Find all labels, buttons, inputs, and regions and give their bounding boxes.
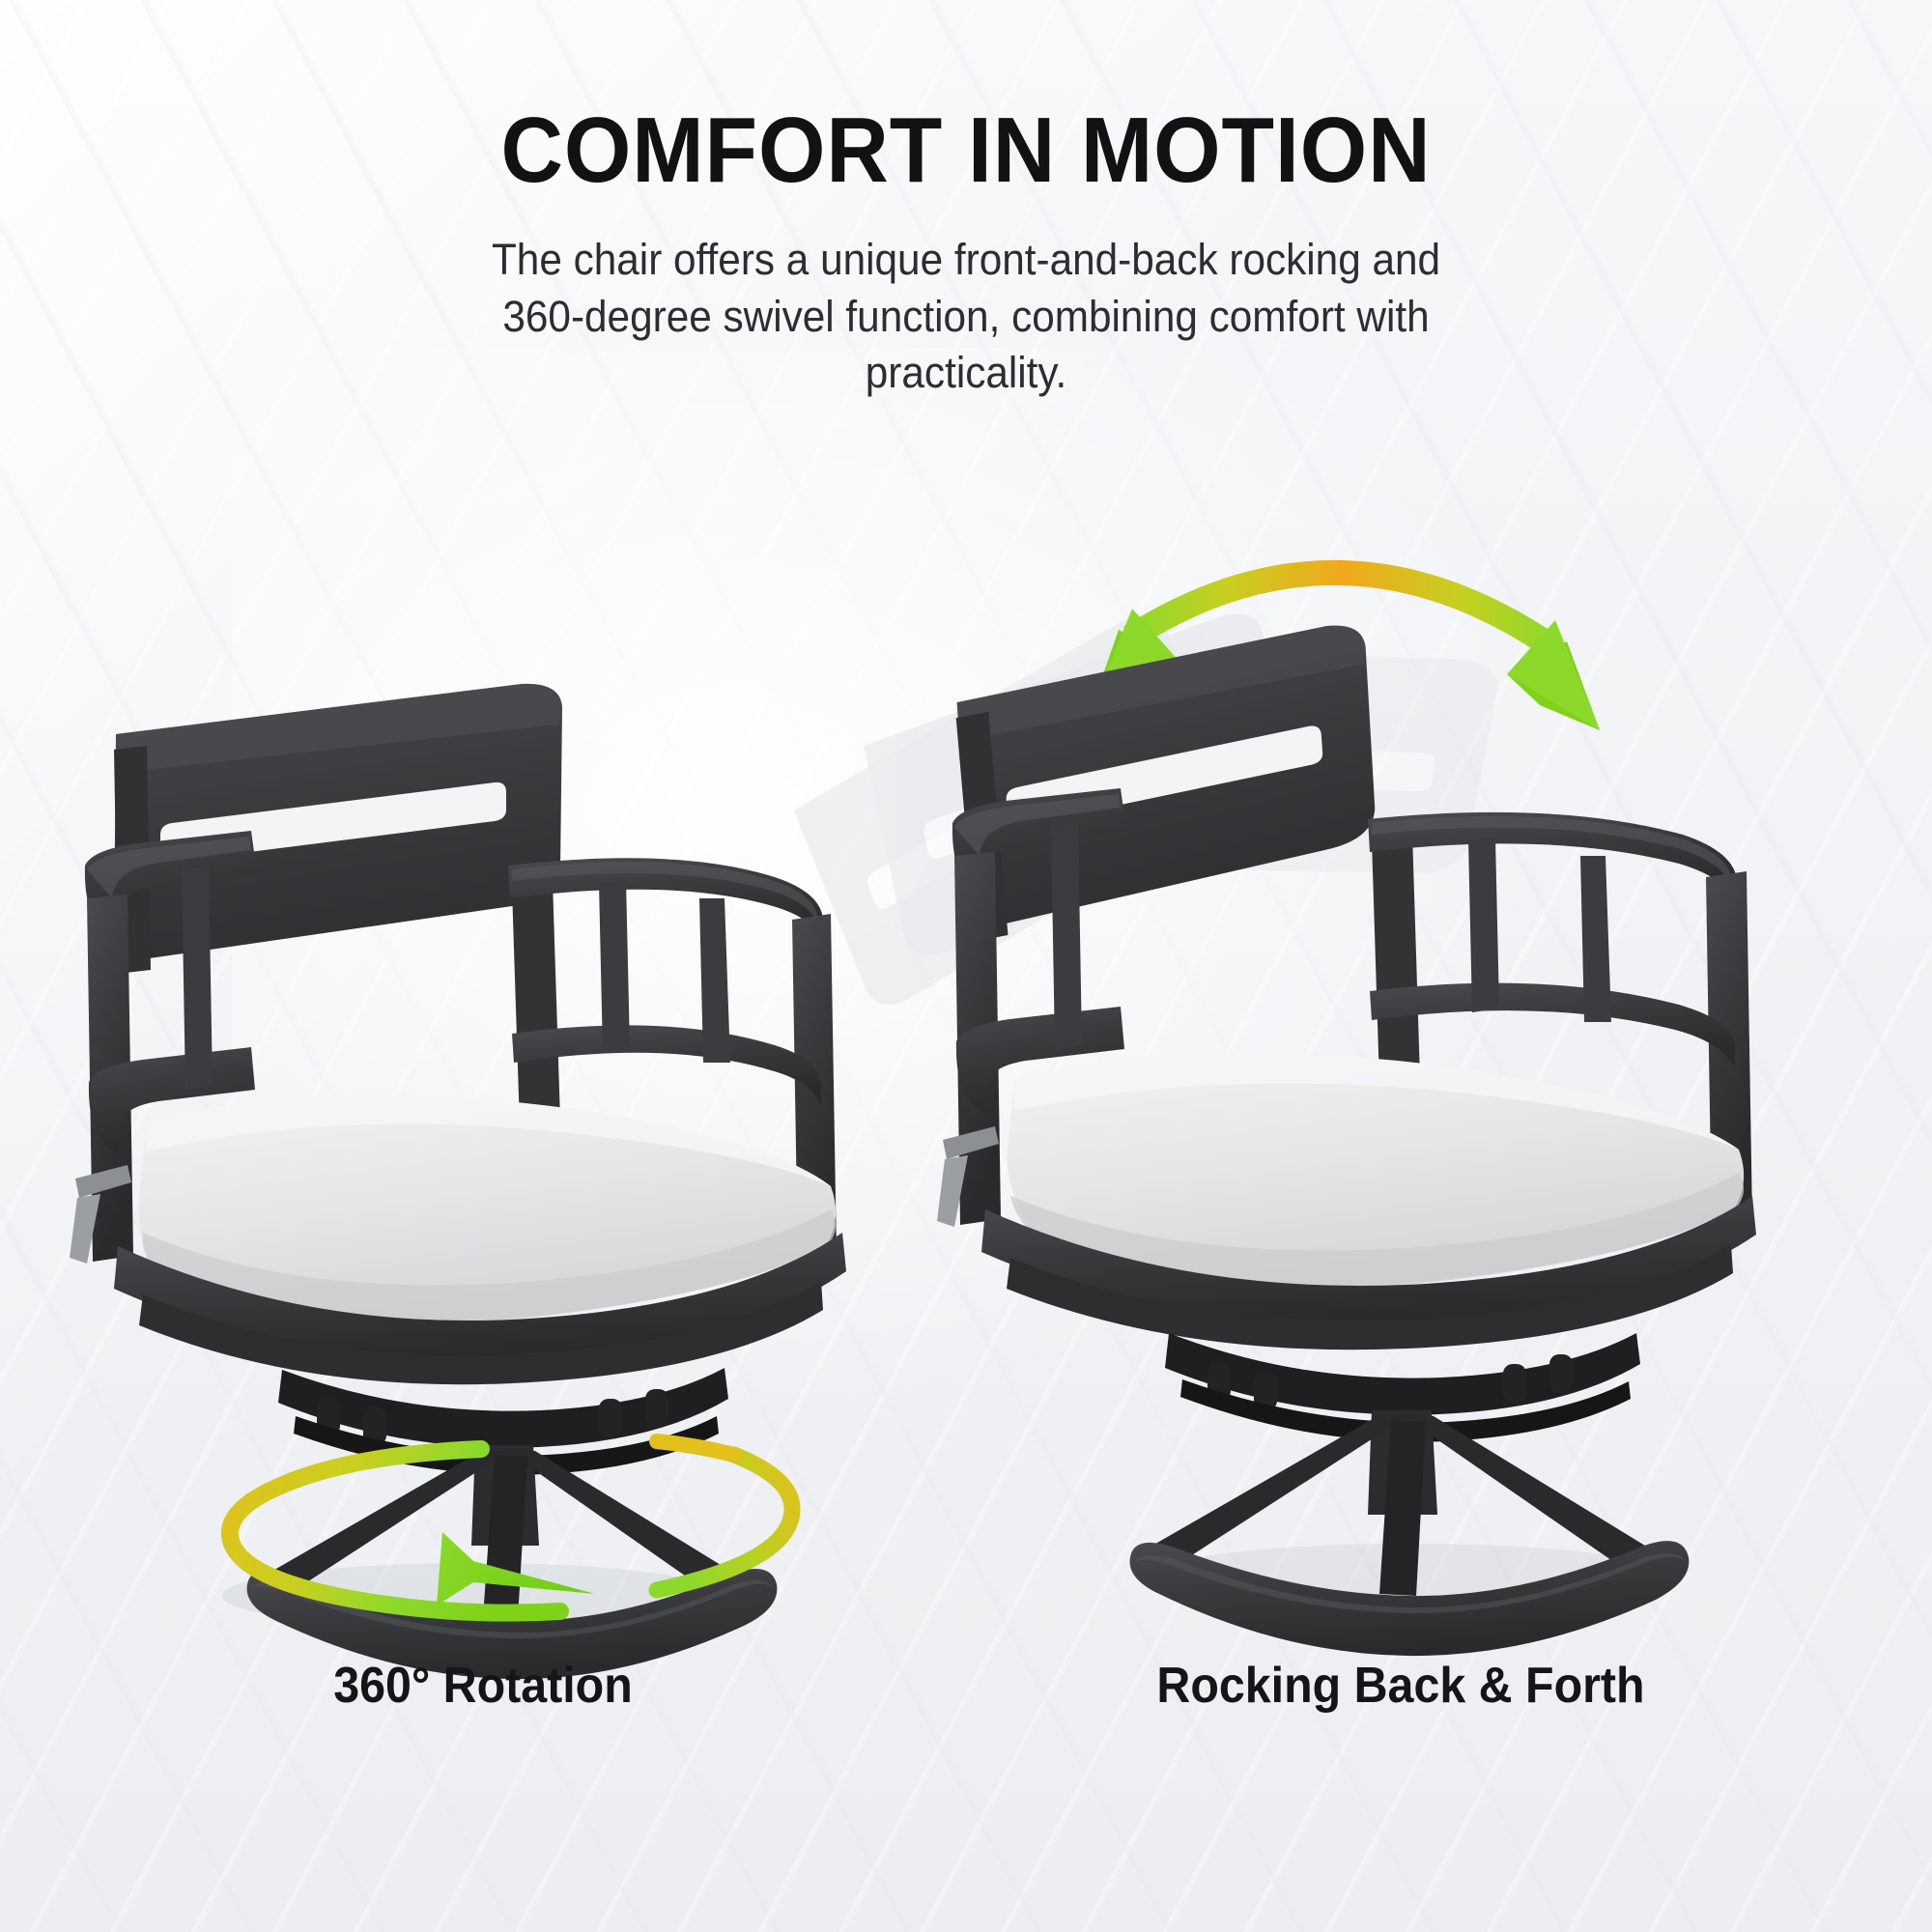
chair-rear-post-right [1372, 833, 1420, 1084]
chair-backrest [114, 684, 562, 974]
caption-rocking: Rocking Back & Forth [952, 1657, 1850, 1715]
chair-backrest [952, 623, 1384, 941]
page-subtitle: The chair offers a unique front-and-back… [430, 232, 1501, 402]
pedestal-base [1130, 1410, 1690, 1656]
chair-illustration-rocking [889, 541, 1893, 1662]
infographic-canvas: COMFORT IN MOTION The chair offers a uni… [0, 0, 1932, 1932]
subtitle-line-2: 360-degree swivel function, combining co… [430, 289, 1501, 346]
panel-rocking [889, 541, 1893, 1662]
subtitle-line-1: The chair offers a unique front-and-back… [430, 232, 1501, 289]
header: COMFORT IN MOTION The chair offers a uni… [0, 0, 1932, 402]
panel-rotation [58, 580, 966, 1662]
chair-rear-post-right [512, 881, 560, 1126]
pedestal-base [247, 1445, 778, 1679]
caption-rotation: 360° Rotation [34, 1657, 932, 1715]
subtitle-line-3: practicality. [430, 345, 1501, 402]
chair-illustration-rotation [58, 580, 966, 1662]
page-title: COMFORT IN MOTION [68, 104, 1864, 197]
